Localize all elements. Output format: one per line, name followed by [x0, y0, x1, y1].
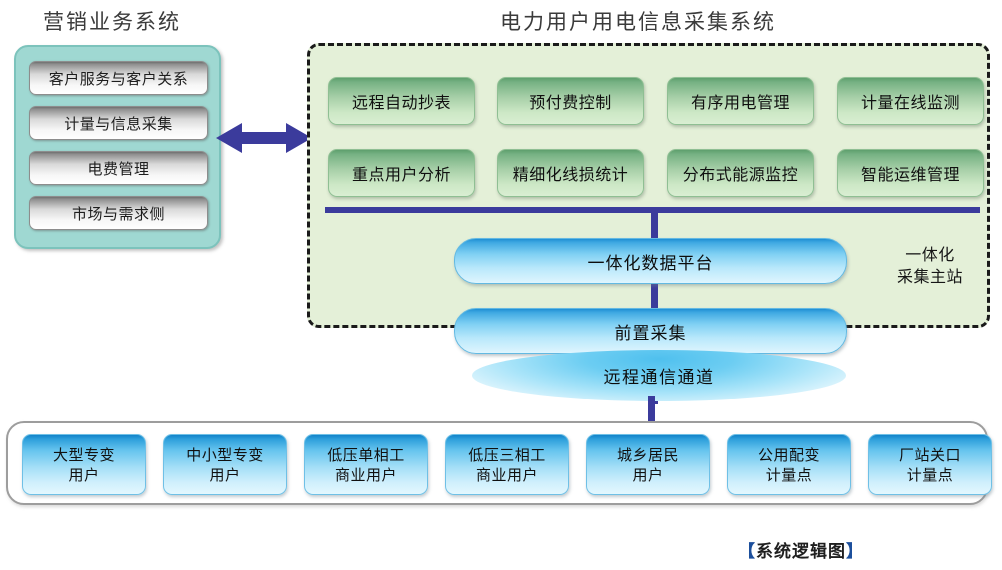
module-key-customer-analysis[interactable]: 重点用户分析: [328, 149, 475, 197]
user-type-medium-small-dedicated-transformer[interactable]: 中小型专变 用户: [163, 434, 287, 495]
user-label-line1: 大型专变: [53, 446, 115, 464]
user-label-line2: 计量点: [766, 466, 813, 484]
user-label-line2: 商业用户: [476, 466, 538, 484]
module-prepayment-control[interactable]: 预付费控制: [497, 77, 644, 125]
integrated-data-platform-node[interactable]: 一体化数据平台: [454, 238, 847, 284]
module-line-loss-statistics[interactable]: 精细化线损统计: [497, 149, 644, 197]
module-distributed-energy-monitoring[interactable]: 分布式能源监控: [667, 149, 814, 197]
user-label-line1: 中小型专变: [186, 446, 264, 464]
user-type-large-dedicated-transformer[interactable]: 大型专变 用户: [22, 434, 146, 495]
double-arrow-icon: [216, 120, 312, 156]
collection-system-panel: 远程自动抄表 预付费控制 有序用电管理 计量在线监测 重点用户分析 精细化线损统…: [307, 43, 990, 328]
user-type-lv-single-phase-commercial[interactable]: 低压单相工 商业用户: [304, 434, 428, 495]
caption-bracket-close: 】: [846, 542, 864, 562]
user-label-line1: 低压三相工: [468, 446, 546, 464]
marketing-item-metering-collection[interactable]: 计量与信息采集: [29, 106, 208, 140]
user-label-line2: 用户: [68, 466, 99, 484]
user-label-line2: 计量点: [907, 466, 954, 484]
marketing-system-panel: 客户服务与客户关系 计量与信息采集 电费管理 市场与需求侧: [14, 45, 221, 249]
right-system-title: 电力用户用电信息采集系统: [500, 6, 776, 36]
user-label-line1: 公用配变: [758, 446, 820, 464]
module-intelligent-om-management[interactable]: 智能运维管理: [837, 149, 984, 197]
connector-bus-to-data-platform: [651, 212, 658, 238]
module-metering-online-monitoring[interactable]: 计量在线监测: [837, 77, 984, 125]
connector-channel-to-users: [648, 396, 655, 423]
diagram-canvas: 营销业务系统 电力用户用电信息采集系统 客户服务与客户关系 计量与信息采集 电费…: [0, 0, 1002, 570]
user-label-line2: 用户: [209, 466, 240, 484]
figure-caption: 【系统逻辑图】: [738, 537, 864, 562]
user-label-line1: 厂站关口: [899, 446, 961, 464]
master-station-label-line1: 一体化: [871, 244, 989, 266]
caption-bracket-open: 【: [738, 542, 756, 562]
master-station-label: 一体化 采集主站: [871, 244, 989, 288]
user-label-line2: 商业用户: [335, 466, 397, 484]
caption-text: 系统逻辑图: [756, 542, 846, 562]
connector-data-platform-to-front: [651, 284, 658, 308]
front-end-collection-node[interactable]: 前置采集: [454, 308, 847, 354]
user-label-line2: 用户: [632, 466, 663, 484]
left-system-title: 营销业务系统: [43, 6, 181, 36]
module-remote-auto-meter-reading[interactable]: 远程自动抄表: [328, 77, 475, 125]
user-type-public-distribution-metering-point[interactable]: 公用配变 计量点: [727, 434, 851, 495]
master-station-label-line2: 采集主站: [871, 266, 989, 288]
user-type-plant-gateway-metering-point[interactable]: 厂站关口 计量点: [868, 434, 992, 495]
module-orderly-power-management[interactable]: 有序用电管理: [667, 77, 814, 125]
user-label-line1: 低压单相工: [327, 446, 405, 464]
user-label-line1: 城乡居民: [617, 446, 679, 464]
remote-communication-channel[interactable]: 远程通信通道: [472, 350, 846, 401]
user-type-lv-three-phase-commercial[interactable]: 低压三相工 商业用户: [445, 434, 569, 495]
marketing-item-market-demand[interactable]: 市场与需求侧: [29, 196, 208, 230]
user-type-urban-rural-residential[interactable]: 城乡居民 用户: [586, 434, 710, 495]
marketing-item-billing[interactable]: 电费管理: [29, 151, 208, 185]
marketing-item-customer-service[interactable]: 客户服务与客户关系: [29, 61, 208, 95]
terminal-users-panel: 大型专变 用户 中小型专变 用户 低压单相工 商业用户 低压三相工 商业用户 城: [6, 421, 988, 505]
